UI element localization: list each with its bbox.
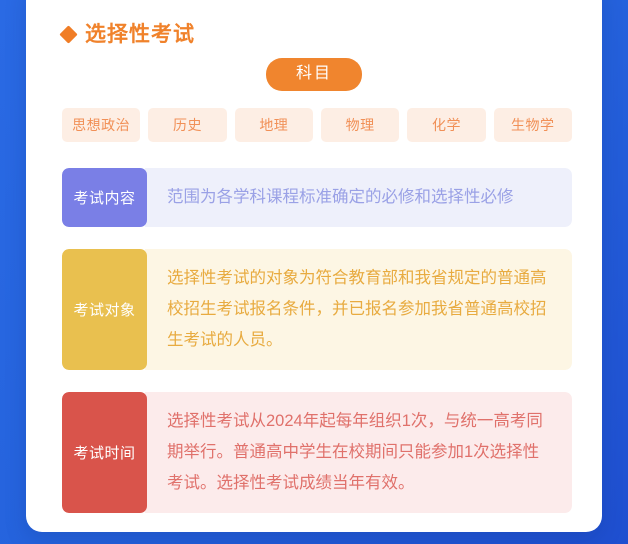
info-row-text-exam-audience: 选择性考试的对象为符合教育部和我省规定的普通高校招生考试报名条件，并已报名参加我… xyxy=(145,249,572,370)
info-row-label-exam-time: 考试时间 xyxy=(62,392,147,513)
subject-pill-row: 科目 xyxy=(26,58,602,91)
subject-tag-politics[interactable]: 思想政治 xyxy=(62,108,140,142)
info-row-exam-content: 考试内容 范围为各学科课程标准确定的必修和选择性必修 xyxy=(62,168,572,227)
subject-tag-list: 思想政治 历史 地理 物理 化学 生物学 xyxy=(62,108,572,142)
subject-tag-chemistry[interactable]: 化学 xyxy=(407,108,485,142)
subject-tag-biology[interactable]: 生物学 xyxy=(494,108,572,142)
section-heading: 选择性考试 xyxy=(62,24,195,45)
info-row-label-exam-audience: 考试对象 xyxy=(62,249,147,370)
diamond-icon xyxy=(59,25,77,43)
subject-tag-physics[interactable]: 物理 xyxy=(321,108,399,142)
subject-tag-history[interactable]: 历史 xyxy=(148,108,226,142)
info-row-text-exam-time: 选择性考试从2024年起每年组织1次，与统一高考同期举行。普通高中学生在校期间只… xyxy=(145,392,572,513)
subject-pill: 科目 xyxy=(266,58,362,91)
content-card: 选择性考试 科目 思想政治 历史 地理 物理 化学 生物学 考试内容 范围为各学… xyxy=(26,0,602,532)
info-row-exam-audience: 考试对象 选择性考试的对象为符合教育部和我省规定的普通高校招生考试报名条件，并已… xyxy=(62,249,572,370)
subject-tag-geography[interactable]: 地理 xyxy=(235,108,313,142)
info-row-exam-time: 考试时间 选择性考试从2024年起每年组织1次，与统一高考同期举行。普通高中学生… xyxy=(62,392,572,513)
info-row-label-exam-content: 考试内容 xyxy=(62,168,147,227)
info-row-text-exam-content: 范围为各学科课程标准确定的必修和选择性必修 xyxy=(145,168,572,227)
page-title: 选择性考试 xyxy=(85,24,195,45)
info-row-list: 考试内容 范围为各学科课程标准确定的必修和选择性必修 考试对象 选择性考试的对象… xyxy=(62,168,572,535)
